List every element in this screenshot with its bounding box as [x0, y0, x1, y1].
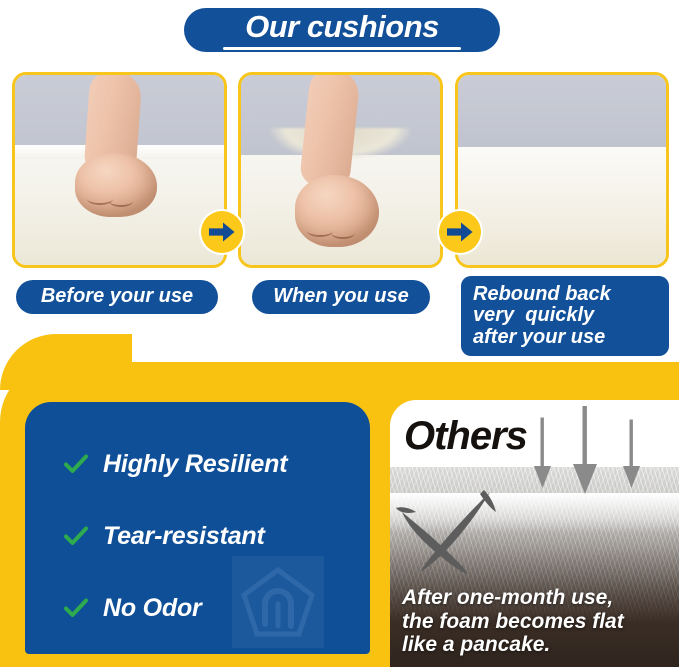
right-arrow-icon: [209, 222, 235, 242]
scene-during: [241, 75, 440, 265]
others-caption-line-1: After one-month use,: [402, 586, 671, 610]
others-caption-line-3: like a pancake.: [402, 633, 671, 657]
feature-label: No Odor: [103, 594, 202, 623]
others-comparison-card: Others After one-month use,: [390, 400, 679, 667]
features-panel: Highly Resilient Tear-resistant No Odor: [25, 402, 370, 654]
caption-rebound-line-3: after your use: [473, 327, 605, 348]
feature-item: No Odor: [63, 582, 363, 634]
step-photo-rebound: [455, 72, 669, 268]
others-caption-line-2: the foam becomes flat: [402, 610, 671, 634]
features-list: Highly Resilient Tear-resistant No Odor: [63, 438, 363, 654]
check-icon: [63, 523, 89, 549]
caption-rebound-line-2: very quickly: [473, 305, 594, 326]
caption-before: Before your use: [16, 280, 218, 314]
scene-before: [15, 75, 224, 265]
pressure-arrows: [522, 406, 662, 506]
others-title: Others: [404, 414, 527, 459]
knuckle-crease: [307, 225, 333, 237]
scene-background-wall: [458, 75, 666, 151]
feature-label: Tear-resistant: [103, 522, 265, 551]
scene-rebound: [458, 75, 666, 265]
comparison-photo-row: [0, 72, 679, 268]
knuckle-crease: [331, 227, 355, 239]
check-icon: [63, 595, 89, 621]
caption-during: When you use: [252, 280, 430, 314]
page-title-banner: Our cushions: [184, 8, 500, 52]
feature-label: Highly Resilient: [103, 450, 287, 479]
caption-rebound: Rebound back very quickly after your use: [461, 276, 669, 356]
step-arrow-badge-1: [201, 211, 243, 253]
caption-rebound-line-1: Rebound back: [473, 284, 611, 305]
step-arrow-badge-2: [439, 211, 481, 253]
title-underline: [223, 47, 461, 50]
three-down-arrows-icon: [522, 406, 662, 506]
step-photo-before: [12, 72, 227, 268]
foam-block-rebounded: [458, 147, 666, 265]
feature-item: Tear-resistant: [63, 510, 363, 562]
cross-out-mark: [394, 486, 524, 582]
page-title: Our cushions: [245, 11, 439, 42]
step-photo-during: [238, 72, 443, 268]
fist: [75, 153, 157, 217]
check-icon: [63, 451, 89, 477]
right-arrow-icon: [447, 222, 473, 242]
knuckle-crease: [109, 195, 133, 207]
brush-x-mark-icon: [394, 486, 524, 582]
feature-item: Highly Resilient: [63, 438, 363, 490]
others-caption: After one-month use, the foam becomes fl…: [402, 586, 671, 657]
